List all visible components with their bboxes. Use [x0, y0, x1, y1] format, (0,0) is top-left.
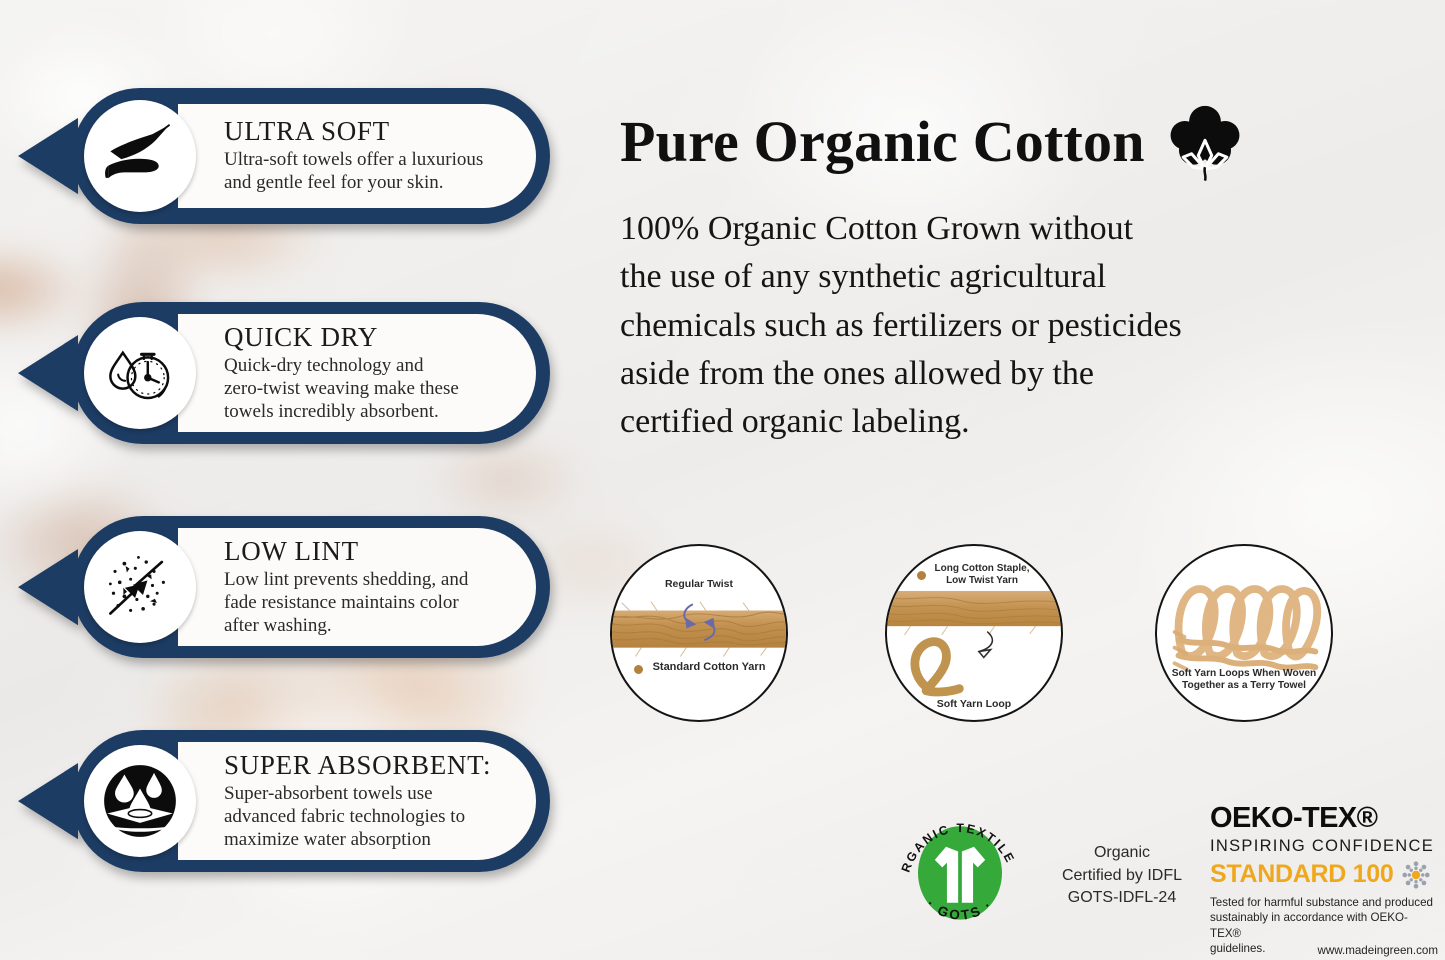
pill-point	[18, 763, 78, 839]
gots-seal-icon: GLOBAL ORGANIC TEXTILE STANDARD · GOTS ·	[890, 798, 1030, 946]
feature-card-text: LOW LINT Low lint prevents shedding, and…	[178, 528, 536, 646]
feature-title: ULTRA SOFT	[224, 117, 510, 147]
feature-card-quick-dry[interactable]: QUICK DRY Quick-dry technology and zero-…	[18, 302, 550, 444]
feature-list: ULTRA SOFT Ultra-soft towels offer a lux…	[0, 0, 600, 960]
diagram-bottom-label: Soft Yarn Loops When Woven Together as a…	[1157, 668, 1331, 693]
hand-feather-icon	[84, 100, 196, 212]
diagram-top-label: Long Cotton Staple, Low Twist Yarn	[887, 563, 1061, 587]
feature-description: Super-absorbent towels use advanced fabr…	[224, 782, 510, 852]
feature-title: LOW LINT	[224, 537, 510, 567]
oeko-tex-url[interactable]: www.madeingreen.com	[1318, 944, 1439, 957]
oeko-tex-title: OEKO-TEX®	[1210, 804, 1438, 833]
feature-card-shell: LOW LINT Low lint prevents shedding, and…	[72, 516, 550, 658]
feature-title: SUPER ABSORBENT:	[224, 751, 510, 781]
pill-point	[18, 549, 78, 625]
right-column: Pure Organic Cotton	[600, 0, 1445, 960]
gots-caption: Organic Certified by IDFL GOTS-IDFL-24	[1042, 842, 1202, 910]
oeko-tex-logo: OEKO-TEX® INSPIRING CONFIDENCE STANDARD …	[1210, 804, 1438, 957]
diagram-low-twist-yarn: Long Cotton Staple, Low Twist Yarn Soft …	[885, 544, 1063, 722]
pill-point	[18, 335, 78, 411]
feature-description: Low lint prevents shedding, and fade res…	[224, 568, 510, 638]
headline-row: Pure Organic Cotton	[620, 100, 1247, 184]
yarn-diagram-group: Regular Twist Standard Cotton Yarn	[600, 538, 1445, 728]
feature-description: Quick-dry technology and zero-twist weav…	[224, 354, 510, 424]
oeko-tex-subtitle: INSPIRING CONFIDENCE	[1210, 836, 1438, 857]
feature-title: QUICK DRY	[224, 323, 510, 353]
lint-particles-arrows-icon	[84, 531, 196, 643]
feature-card-ultra-soft[interactable]: ULTRA SOFT Ultra-soft towels offer a lux…	[18, 88, 550, 224]
feature-card-super-absorbent[interactable]: SUPER ABSORBENT: Super-absorbent towels …	[18, 730, 550, 872]
feature-card-text: QUICK DRY Quick-dry technology and zero-…	[178, 314, 536, 432]
hero-body-text: 100% Organic Cotton Grown without the us…	[620, 205, 1420, 446]
feature-card-text: ULTRA SOFT Ultra-soft towels offer a lux…	[178, 104, 536, 208]
diagram-regular-twist: Regular Twist Standard Cotton Yarn	[610, 544, 788, 722]
feature-card-text: SUPER ABSORBENT: Super-absorbent towels …	[178, 742, 536, 860]
diagram-terry-towel-loops: Soft Yarn Loops When Woven Together as a…	[1155, 544, 1333, 722]
water-drops-absorb-icon	[84, 745, 196, 857]
oeko-tex-standard-row: STANDARD 100	[1210, 860, 1438, 890]
feature-card-low-lint[interactable]: LOW LINT Low lint prevents shedding, and…	[18, 516, 550, 658]
oeko-flower-icon	[1401, 860, 1431, 890]
feature-card-shell: ULTRA SOFT Ultra-soft towels offer a lux…	[72, 88, 550, 224]
diagram-bottom-label: Soft Yarn Loop	[887, 698, 1061, 711]
cotton-boll-icon	[1163, 100, 1247, 184]
diagram-top-label: Regular Twist	[612, 578, 786, 591]
certification-row: GLOBAL ORGANIC TEXTILE STANDARD · GOTS ·…	[600, 790, 1445, 955]
droplet-stopwatch-icon	[84, 317, 196, 429]
feature-description: Ultra-soft towels offer a luxurious and …	[224, 148, 510, 194]
feature-card-shell: SUPER ABSORBENT: Super-absorbent towels …	[72, 730, 550, 872]
oeko-tex-standard: STANDARD 100	[1210, 862, 1393, 887]
feature-card-shell: QUICK DRY Quick-dry technology and zero-…	[72, 302, 550, 444]
page-title: Pure Organic Cotton	[620, 113, 1145, 171]
diagram-bottom-label: Standard Cotton Yarn	[612, 661, 786, 674]
pill-point	[18, 118, 78, 194]
